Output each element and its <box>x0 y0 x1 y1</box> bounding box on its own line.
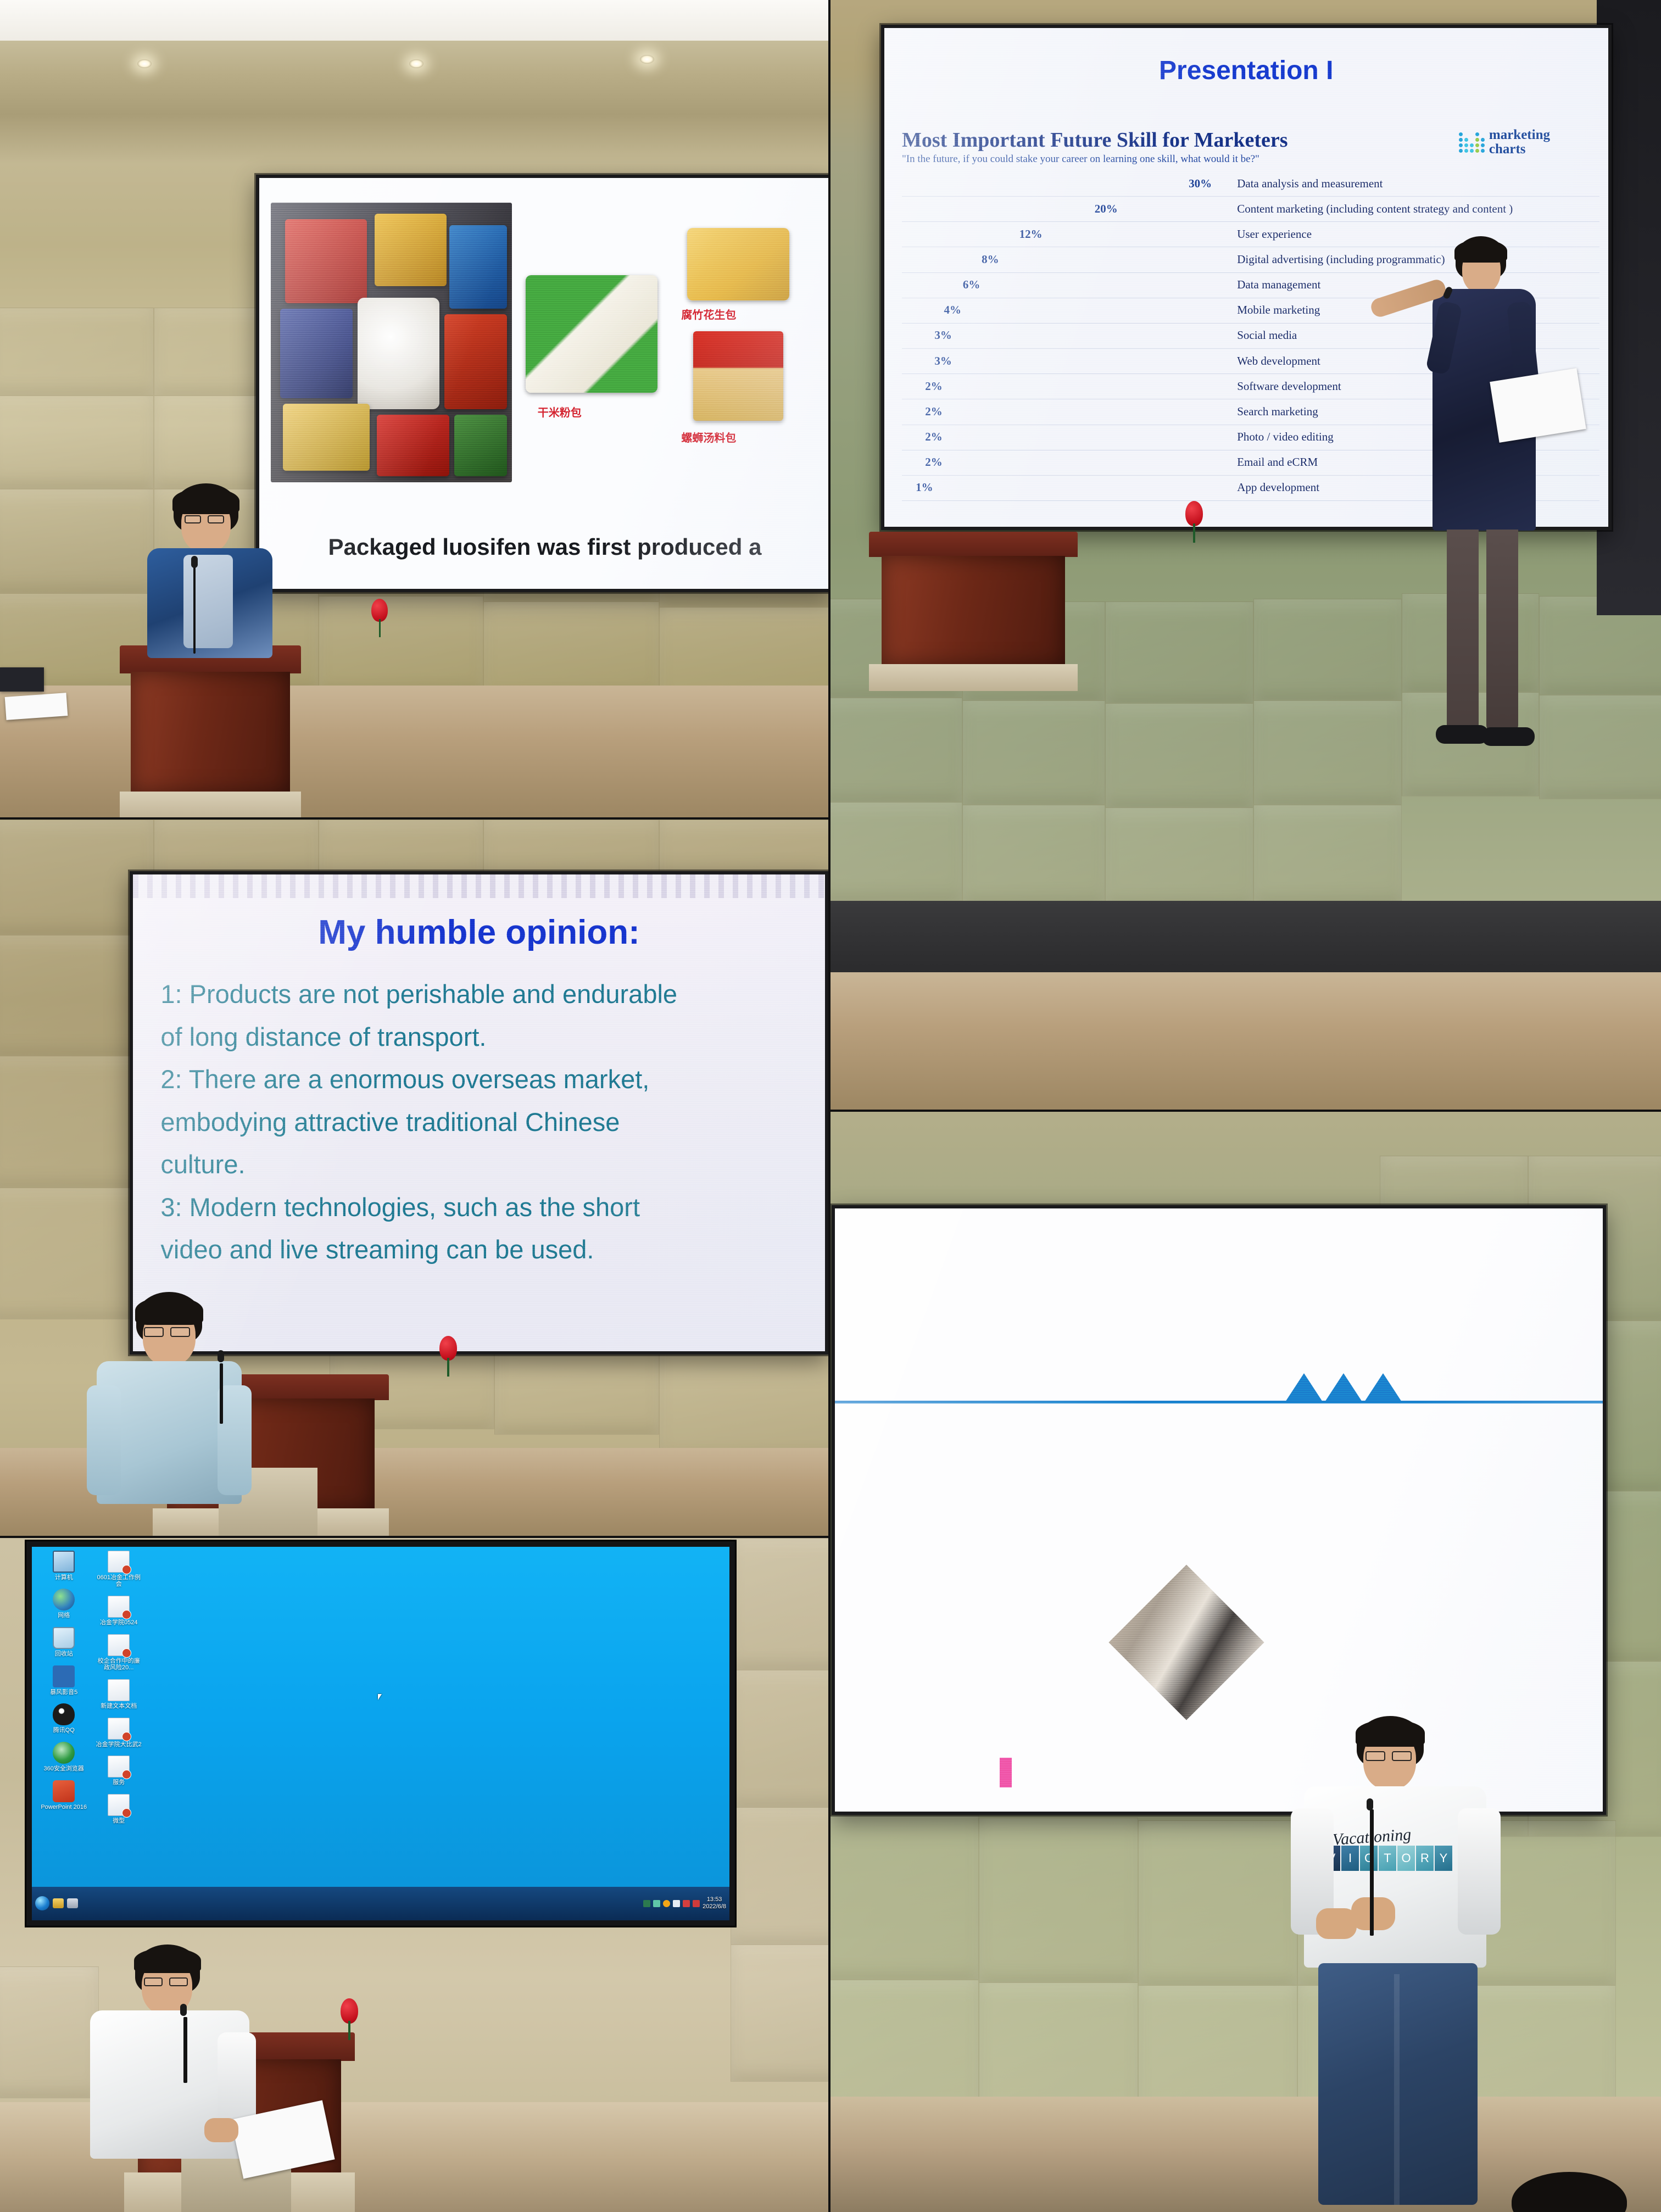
podium <box>120 645 301 817</box>
chart-value-label: 30% <box>1189 177 1212 191</box>
chart-bar-area: 2% <box>902 380 1223 393</box>
desktop-icon-ppt-file[interactable]: 校企合作中的廉政风险20... <box>95 1634 142 1671</box>
package-label-snail-soup: 螺蛳汤料包 <box>681 429 736 445</box>
tray-icon-update[interactable] <box>663 1900 670 1907</box>
chart-bar-area: 20% <box>902 202 1223 216</box>
desktop-icon-ppt-file[interactable]: 冶金学院0524 <box>95 1596 142 1626</box>
system-tray[interactable]: 13:53 2022/6/8 <box>643 1896 726 1910</box>
microphone-icon <box>218 1350 224 1362</box>
logo-dots-icon <box>1459 132 1485 153</box>
slide-title: My humble opinion: <box>160 913 797 952</box>
media-player-icon <box>53 1665 75 1687</box>
chart-value-label: 2% <box>925 380 943 393</box>
rose-decoration <box>1185 501 1203 542</box>
desktop-icon-label: 冶金学院大比武2 <box>95 1741 142 1748</box>
chart-bar-area: 12% <box>902 227 1223 241</box>
chart-bar-area: 3% <box>902 354 1223 368</box>
mountain-icon <box>1364 1373 1402 1402</box>
logo-line-1: marketing <box>1489 128 1550 142</box>
chart-value-label: 2% <box>925 430 943 444</box>
chart-bar-area: 2% <box>902 455 1223 469</box>
desktop-icon-column-1: 计算机网络回收站暴风影音5腾讯QQ360安全浏览器PowerPoint 2016 <box>40 1551 87 1825</box>
powerpoint-badge-icon <box>122 1565 131 1574</box>
powerpoint-badge-icon <box>122 1732 131 1741</box>
chart-value-label: 3% <box>934 354 952 368</box>
slide-luosifen: 干米粉包 腐竹花生包 螺蛳汤料包 Packaged luosifen was f… <box>259 178 828 589</box>
desktop-icon-label: 服务 <box>95 1779 142 1786</box>
chart-row: 30%Data analysis and measurement <box>902 171 1599 196</box>
eyeglasses-icon <box>1365 1751 1385 1761</box>
desktop-icon-grid: 计算机网络回收站暴风影音5腾讯QQ360安全浏览器PowerPoint 2016… <box>40 1551 150 1825</box>
desktop-icon-browser[interactable]: 360安全浏览器 <box>40 1742 87 1773</box>
powerpoint-badge-icon <box>122 1808 131 1818</box>
chart-value-label: 4% <box>944 303 962 317</box>
desktop-icon-label: 计算机 <box>40 1574 87 1581</box>
chart-value-label: 8% <box>982 253 999 266</box>
eyeglasses-icon <box>144 1327 164 1337</box>
pink-marker <box>1000 1758 1012 1787</box>
ppt-file-icon <box>108 1634 130 1656</box>
chart-bar-area: 3% <box>902 328 1223 342</box>
handheld-microphone-stand <box>1370 1809 1374 1936</box>
desktop-icon-ppt-file[interactable]: 微型 <box>95 1794 142 1825</box>
mountain-icon <box>1285 1373 1323 1402</box>
microphone-stand <box>183 2017 187 2083</box>
eyeglasses-icon <box>144 1977 163 1986</box>
taskbar-explorer-icon[interactable] <box>53 1898 64 1908</box>
opinion-line-6: 3: Modern technologies, such as the shor… <box>160 1190 797 1224</box>
qq-penguin-icon <box>53 1703 75 1725</box>
peanut-package-image <box>687 228 789 300</box>
logo-line-2: charts <box>1489 142 1550 157</box>
eyeglasses-icon <box>169 1977 188 1986</box>
chart-value-label: 6% <box>963 278 980 292</box>
desktop-icon-text-file[interactable]: 新建文本文档 <box>95 1679 142 1710</box>
speaker-graphic-tshirt: Vacationing V I C T O R Y <box>1286 1716 1517 2212</box>
recycle-bin-icon <box>53 1627 75 1649</box>
clock-date: 2022/6/8 <box>703 1903 726 1910</box>
ppt-file-icon <box>108 1794 130 1816</box>
opinion-line-7: video and live streaming can be used. <box>160 1233 797 1266</box>
opinion-line-2: of long distance of transport. <box>160 1020 797 1054</box>
desktop-icon-label: 360安全浏览器 <box>40 1765 87 1773</box>
eyeglasses-icon <box>1392 1751 1412 1761</box>
chart-value-label: 2% <box>925 455 943 469</box>
stage-platform <box>830 901 1661 972</box>
microphone-icon <box>1367 1798 1373 1810</box>
opinion-line-5: culture. <box>160 1147 797 1181</box>
chart-bar-area: 1% <box>902 481 1223 494</box>
tray-icon-app[interactable] <box>693 1900 700 1907</box>
panel-luosifen-presentation: 干米粉包 腐竹花生包 螺蛳汤料包 Packaged luosifen was f… <box>0 0 828 817</box>
tray-icon-volume[interactable] <box>673 1900 680 1907</box>
desktop-icon-ppt-file[interactable]: 0601冶金工作例会 <box>95 1551 142 1588</box>
panel-humble-opinion-presentation: My humble opinion: 1: Products are not p… <box>0 820 828 1536</box>
mouse-cursor-icon <box>378 1694 382 1700</box>
slide-caption: Packaged luosifen was first produced a <box>259 534 828 560</box>
computer-icon <box>53 1551 75 1573</box>
powerpoint-badge-icon <box>122 1610 131 1619</box>
chart-row: 20%Content marketing (including content … <box>902 196 1599 221</box>
microphone-icon <box>180 2004 187 2016</box>
marketing-charts-logo: marketing charts <box>1459 128 1550 157</box>
projection-screen: My humble opinion: 1: Products are not p… <box>130 871 828 1355</box>
presentation-header: Presentation I <box>1159 55 1333 86</box>
desktop-icon-label: 回收站 <box>40 1651 87 1658</box>
speaker-navy-dress <box>1385 236 1567 851</box>
opinion-line-1: 1: Products are not perishable and endur… <box>160 977 797 1011</box>
chart-category-label: Data analysis and measurement <box>1223 177 1599 191</box>
rose-decoration <box>439 1336 457 1375</box>
desk-equipment <box>0 667 44 692</box>
desktop-icon-label: 网络 <box>40 1612 87 1619</box>
slide-border-pattern <box>133 874 825 898</box>
taskbar-app-icon[interactable] <box>67 1898 78 1908</box>
tray-icon-network[interactable] <box>683 1900 690 1907</box>
powerpoint-badge-icon <box>122 1648 131 1658</box>
microphone-stand <box>193 566 196 654</box>
podium <box>869 532 1078 691</box>
soup-package-image <box>693 331 783 421</box>
ppt-file-icon <box>108 1718 130 1740</box>
package-label-tofu-peanut: 腐竹花生包 <box>681 306 736 322</box>
desktop-icon-powerpoint[interactable]: PowerPoint 2016 <box>40 1780 87 1811</box>
desktop-icon-media-player[interactable]: 暴风影音5 <box>40 1665 87 1696</box>
chart-value-label: 3% <box>934 328 952 342</box>
diamond-photo <box>1109 1565 1264 1720</box>
taskbar-clock[interactable]: 13:53 2022/6/8 <box>703 1896 726 1910</box>
powerpoint-badge-icon <box>122 1770 131 1779</box>
rose-decoration <box>371 599 388 636</box>
browser-icon <box>53 1742 75 1764</box>
chart-bar-area: 4% <box>902 303 1223 317</box>
ppt-file-icon <box>108 1551 130 1573</box>
package-illustrations: 干米粉包 腐竹花生包 螺蛳汤料包 <box>520 203 819 482</box>
desktop-icon-ppt-file[interactable]: 服务 <box>95 1756 142 1786</box>
desktop-icon-label: 新建文本文档 <box>95 1703 142 1710</box>
chart-value-label: 20% <box>1095 202 1118 216</box>
chart-category-label: Content marketing (including content str… <box>1223 202 1599 216</box>
desktop-icon-label: 暴风影音5 <box>40 1689 87 1696</box>
eyeglasses-icon <box>170 1327 190 1337</box>
text-file-icon <box>108 1679 130 1701</box>
panel-mountain-slide-presentation: Vacationing V I C T O R Y <box>830 1112 1661 2212</box>
desktop-icon-label: 校企合作中的廉政风险20... <box>95 1658 142 1671</box>
microphone-stand <box>220 1363 223 1424</box>
desktop-icon-computer[interactable]: 计算机 <box>40 1551 87 1581</box>
slide-humble-opinion: My humble opinion: 1: Products are not p… <box>133 874 825 1351</box>
chart-bar-area: 2% <box>902 430 1223 444</box>
desktop-icon-label: 冶金学院0524 <box>95 1619 142 1626</box>
desktop-icon-recycle-bin[interactable]: 回收站 <box>40 1627 87 1658</box>
windows-taskbar[interactable]: 13:53 2022/6/8 <box>32 1887 729 1920</box>
opinion-line-4: embodying attractive traditional Chinese <box>160 1105 797 1139</box>
photo-collage: 干米粉包 腐竹花生包 螺蛳汤料包 Packaged luosifen was f… <box>0 0 1661 2212</box>
chart-bar-area: 2% <box>902 405 1223 419</box>
panel-marketing-chart-presentation: Presentation I Most Important Future Ski… <box>830 0 1661 1110</box>
clock-time: 13:53 <box>703 1896 726 1903</box>
chart-bar-area: 8% <box>902 253 1223 266</box>
desktop-icon-column-2: 0601冶金工作例会冶金学院0524校企合作中的廉政风险20...新建文本文档冶… <box>95 1551 150 1825</box>
chart-bar-area: 6% <box>902 278 1223 292</box>
desk-papers <box>5 693 68 720</box>
tshirt-victory-blocks: V I C T O R Y <box>1323 1846 1452 1871</box>
start-button[interactable] <box>35 1896 49 1910</box>
tray-icon-security[interactable] <box>653 1900 660 1907</box>
desktop-icon-qq-penguin[interactable]: 腾讯QQ <box>40 1703 87 1734</box>
chart-value-label: 12% <box>1019 227 1043 241</box>
panel-windows-desktop-presentation: 计算机网络回收站暴风影音5腾讯QQ360安全浏览器PowerPoint 2016… <box>0 1538 828 2212</box>
horizon-line <box>835 1401 1603 1403</box>
desktop-icon-ppt-file[interactable]: 冶金学院大比武2 <box>95 1718 142 1748</box>
floor <box>830 972 1661 1110</box>
rice-noodle-package-image <box>526 275 657 393</box>
powerpoint-icon <box>53 1780 75 1802</box>
opinion-line-3: 2: There are a enormous overseas market, <box>160 1062 797 1096</box>
desktop-icon-label: 腾讯QQ <box>40 1727 87 1734</box>
slide-body: 1: Products are not perishable and endur… <box>160 977 797 1266</box>
chart-bar-area: 30% <box>902 177 1223 191</box>
desktop-icon-label: 微型 <box>95 1818 142 1825</box>
network-icon <box>53 1589 75 1611</box>
mountain-icon <box>1325 1373 1362 1402</box>
luosifen-product-photo <box>271 203 512 482</box>
presentation-display-windows-desktop: 计算机网络回收站暴风影音5腾讯QQ360安全浏览器PowerPoint 2016… <box>26 1541 735 1926</box>
desktop-icon-label: 0601冶金工作例会 <box>95 1574 142 1588</box>
desktop-icon-network[interactable]: 网络 <box>40 1589 87 1619</box>
chart-value-label: 2% <box>925 405 943 419</box>
projection-screen: 干米粉包 腐竹花生包 螺蛳汤料包 Packaged luosifen was f… <box>256 175 828 592</box>
desktop-icon-label: PowerPoint 2016 <box>40 1804 87 1811</box>
ppt-file-icon <box>108 1756 130 1778</box>
speaker-luosifen <box>131 483 306 665</box>
ppt-file-icon <box>108 1596 130 1618</box>
microphone-icon <box>191 556 198 568</box>
speaker-white-shirt <box>82 1944 280 2212</box>
rose-decoration <box>341 1998 358 2039</box>
tray-icon-show-desktop[interactable] <box>643 1900 650 1907</box>
speaker-blue-shirt <box>88 1292 275 1536</box>
chart-value-label: 1% <box>916 481 933 494</box>
package-label-dry-rice-noodle: 干米粉包 <box>538 404 582 420</box>
